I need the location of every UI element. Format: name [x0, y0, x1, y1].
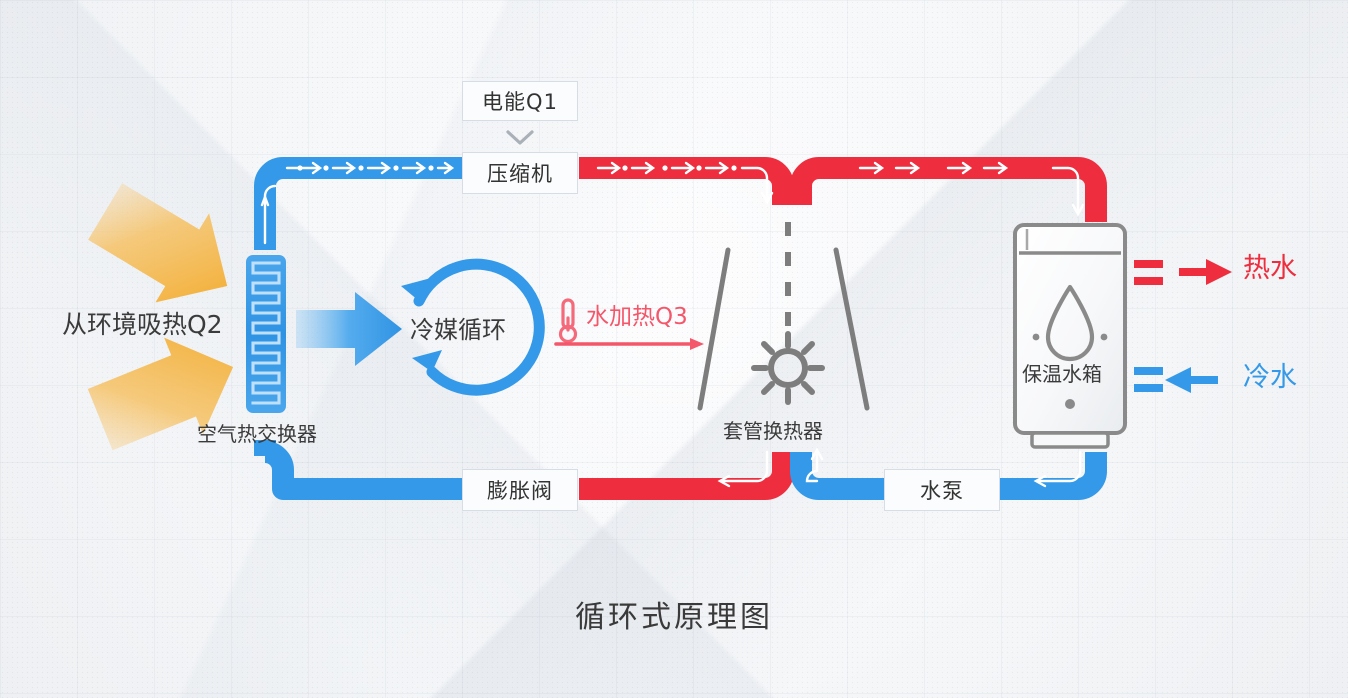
ambient-air-arrow-upper [78, 167, 254, 330]
label-ambient-heat: 从环境吸热Q2 [62, 312, 223, 337]
air-heat-exchanger-unit [246, 255, 286, 413]
water-tank-unit [1015, 225, 1125, 447]
label-tube-heat-exchanger: 套管换热器 [723, 421, 823, 441]
refrigerant-cycle-arrowhead-bottom [412, 350, 442, 372]
page-title: 循环式原理图 [0, 592, 1348, 636]
chevron-down-icon [508, 132, 532, 143]
label-refrigerant-cycle: 冷媒循环 [410, 318, 506, 342]
pipe-hot-water-supply-top [801, 163, 1096, 222]
tube-heat-exchanger-unit [700, 222, 867, 408]
label-water-tank: 保温水箱 [1022, 364, 1102, 384]
refrigerant-flow-arrow [296, 292, 402, 366]
label-water-heating: 水加热Q3 [586, 306, 688, 329]
hot-water-port [1134, 259, 1232, 285]
label-air-heat-exchanger: 空气热交换器 [197, 424, 317, 444]
pipe-return-cold-left [265, 440, 462, 489]
box-expansion-valve[interactable]: 膨胀阀 [462, 469, 578, 511]
label-hot-water: 热水 [1243, 255, 1297, 282]
cold-water-port [1134, 367, 1218, 393]
pipe-water-loop-supply [1000, 452, 1096, 489]
water-heating-arrow [556, 338, 704, 350]
box-compressor[interactable]: 压缩机 [462, 152, 578, 194]
pipe-suction-cold [262, 163, 462, 250]
box-electric-energy[interactable]: 电能Q1 [462, 81, 578, 121]
pipe-return-hot [579, 452, 783, 489]
diagram-canvas: 电能Q1 压缩机 膨胀阀 水泵 从环境吸热Q2 空气热交换器 冷媒循环 水加热Q… [0, 0, 1348, 698]
label-cold-water: 冷水 [1243, 364, 1297, 391]
thermometer-icon [561, 300, 576, 342]
box-water-pump[interactable]: 水泵 [884, 469, 1000, 511]
pipe-discharge-hot-left [579, 163, 783, 205]
pipe-water-loop-return [801, 450, 885, 489]
